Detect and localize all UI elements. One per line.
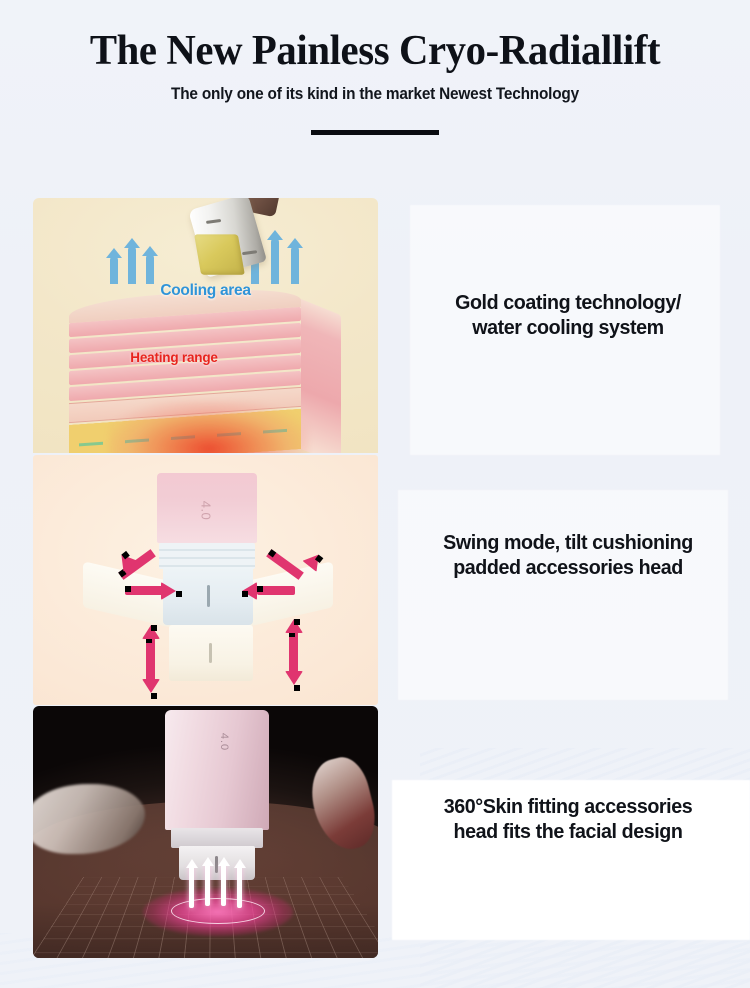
energy-arrow-icon [221, 864, 226, 906]
cushion-arrow-head-icon [285, 671, 303, 685]
feature-row-swing-mode: 4.0 [0, 455, 750, 705]
energy-ring-outline [171, 898, 265, 924]
cooling-arrow-icon [110, 256, 118, 284]
cushion-arrow-icon [146, 637, 155, 681]
caption-line-1: 360°Skin fitting accessories [399, 794, 737, 819]
energy-arrow-icon [237, 866, 242, 908]
cushion-arrow-head-icon [285, 619, 303, 633]
handpiece-body [165, 710, 269, 830]
cartridge-depth-label: 4.0 [218, 733, 230, 751]
skin-layer-stack [69, 293, 341, 453]
cushion-arrow-head-icon [142, 679, 160, 693]
cooling-arrow-icon [291, 246, 299, 284]
energy-arrow-icon [205, 864, 210, 906]
cushion-arrow-icon [289, 631, 298, 673]
cartridge-depth-label: 4.0 [198, 501, 213, 521]
caption-skin-fitting: 360°Skin fitting accessories head fits t… [399, 794, 737, 844]
heating-range-label: Heating range [59, 350, 289, 365]
handpiece-on-face: 4.0 [165, 710, 269, 876]
title-divider-rule [311, 130, 439, 135]
caption-line-2: head fits the facial design [399, 819, 737, 844]
cooling-area-label: Cooling area [33, 282, 378, 300]
caption-swing-mode: Swing mode, tilt cushioning padded acces… [399, 530, 737, 580]
swing-arrow-icon [257, 586, 295, 595]
swing-arrow-head-icon [161, 582, 176, 600]
figure-skin-cross-section: Cooling area Heating range [33, 198, 378, 453]
feature-row-gold-coating: Cooling area Heating range Gold coating … [0, 198, 750, 453]
cushion-arrow-head-icon [142, 625, 160, 639]
swing-arrow-head-icon [242, 582, 257, 600]
energy-arrow-icon [189, 866, 194, 908]
heating-zone-glow [109, 401, 309, 453]
swing-arrow-icon [125, 586, 163, 595]
caption-line-2: water cooling system [399, 315, 737, 340]
gold-coated-tip [194, 234, 245, 274]
cartridge-ribbed-collar [159, 543, 255, 569]
caption-gold-coating: Gold coating technology/ water cooling s… [399, 290, 737, 340]
caption-line-1: Swing mode, tilt cushioning [399, 530, 737, 555]
figure-swing-mode: 4.0 [33, 455, 378, 705]
cartridge-alignment-mark [207, 585, 210, 607]
caption-line-2: padded accessories head [399, 555, 737, 580]
handpiece-neck [171, 828, 263, 848]
caption-line-1: Gold coating technology/ [399, 290, 737, 315]
cooling-arrow-icon [128, 246, 136, 284]
cooling-arrow-icon [146, 254, 154, 284]
figure-3d-mesh-face: 4.0 [33, 706, 378, 958]
padded-head-alignment-mark [209, 643, 212, 663]
feature-row-skin-fitting: 4.0 360°Skin fitting accessories head fi… [0, 706, 750, 958]
page-title: The New Painless Cryo-Radiallift [11, 0, 739, 72]
page-subtitle: The only one of its kind in the market N… [26, 72, 724, 104]
page-header: The New Painless Cryo-Radiallift The onl… [0, 0, 750, 135]
